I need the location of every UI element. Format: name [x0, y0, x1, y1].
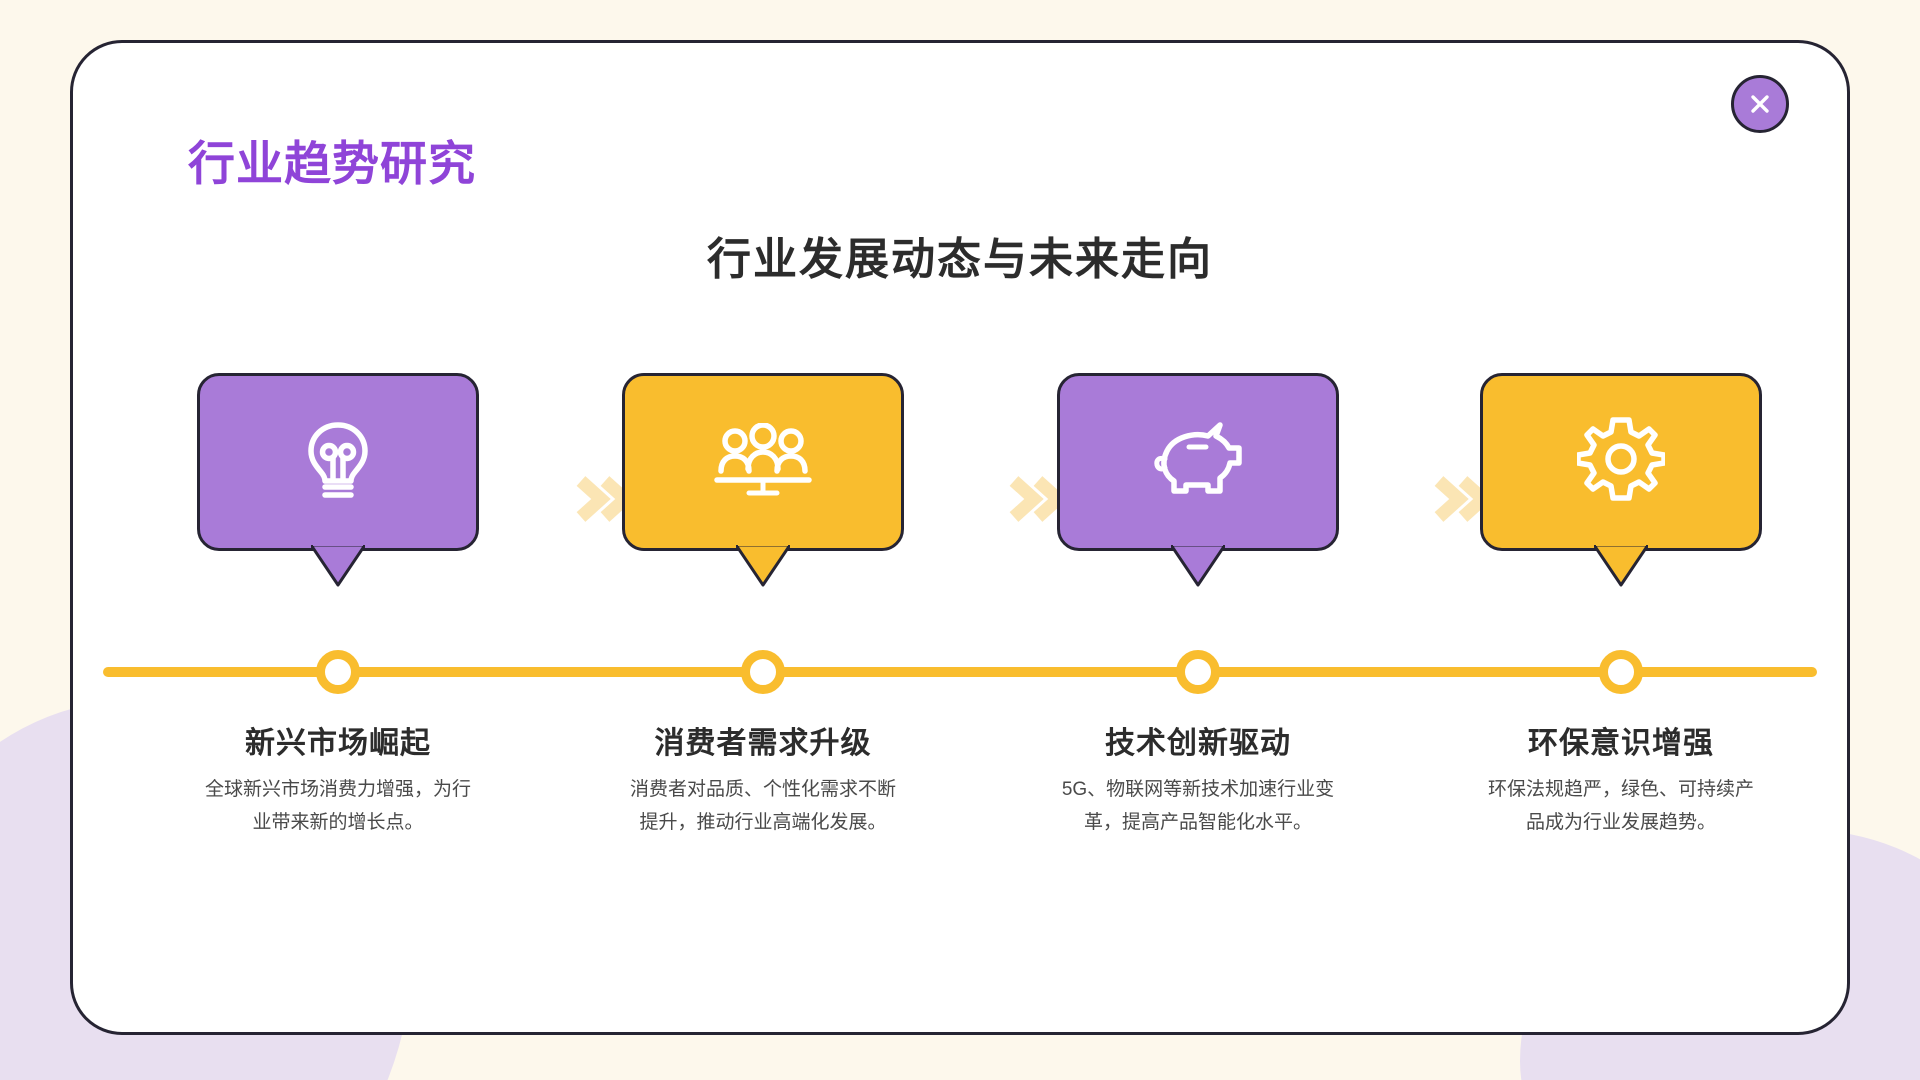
step-description: 消费者对品质、个性化需求不断提升，推动行业高端化发展。 [626, 773, 900, 840]
close-button[interactable] [1731, 75, 1789, 133]
timeline-track [103, 667, 1817, 677]
timeline-step-1[interactable]: 新兴市场崛起 全球新兴市场消费力增强，为行业带来新的增长点。 [173, 373, 503, 551]
timeline-node-2[interactable] [741, 650, 785, 694]
step-title: 新兴市场崛起 [173, 718, 503, 762]
timeline: 新兴市场崛起 全球新兴市场消费力增强，为行业带来新的增长点。 [73, 373, 1847, 933]
gear-icon [1577, 416, 1665, 509]
page-title: 行业趋势研究 [188, 125, 476, 194]
icon-bubble-2 [622, 373, 904, 551]
icon-bubble-body [197, 373, 479, 551]
lightbulb-icon [300, 419, 376, 506]
icon-bubble-1 [197, 373, 479, 551]
step-description: 环保法规趋严，绿色、可持续产品成为行业发展趋势。 [1484, 773, 1758, 840]
timeline-step-2[interactable]: 消费者需求升级 消费者对品质、个性化需求不断提升，推动行业高端化发展。 [598, 373, 928, 551]
step-title: 环保意识增强 [1456, 718, 1786, 762]
step-description: 5G、物联网等新技术加速行业变革，提高产品智能化水平。 [1061, 773, 1335, 840]
timeline-node-1[interactable] [316, 650, 360, 694]
timeline-step-4[interactable]: 环保意识增强 环保法规趋严，绿色、可持续产品成为行业发展趋势。 [1456, 373, 1786, 551]
icon-bubble-body [1057, 373, 1339, 551]
step-title: 消费者需求升级 [598, 718, 928, 762]
step-title: 技术创新驱动 [1033, 718, 1363, 762]
icon-bubble-body [622, 373, 904, 551]
timeline-step-3[interactable]: 技术创新驱动 5G、物联网等新技术加速行业变革，提高产品智能化水平。 [1033, 373, 1363, 551]
icon-bubble-3 [1057, 373, 1339, 551]
step-description: 全球新兴市场消费力增强，为行业带来新的增长点。 [201, 773, 475, 840]
people-group-icon [711, 423, 815, 502]
icon-bubble-body [1480, 373, 1762, 551]
timeline-node-4[interactable] [1599, 650, 1643, 694]
icon-bubble-4 [1480, 373, 1762, 551]
timeline-node-3[interactable] [1176, 650, 1220, 694]
slide-card: 行业趋势研究 行业发展动态与未来走向 [70, 40, 1850, 1035]
piggy-bank-icon [1146, 420, 1250, 505]
main-heading: 行业发展动态与未来走向 [73, 223, 1847, 287]
close-x-icon [1745, 89, 1775, 119]
